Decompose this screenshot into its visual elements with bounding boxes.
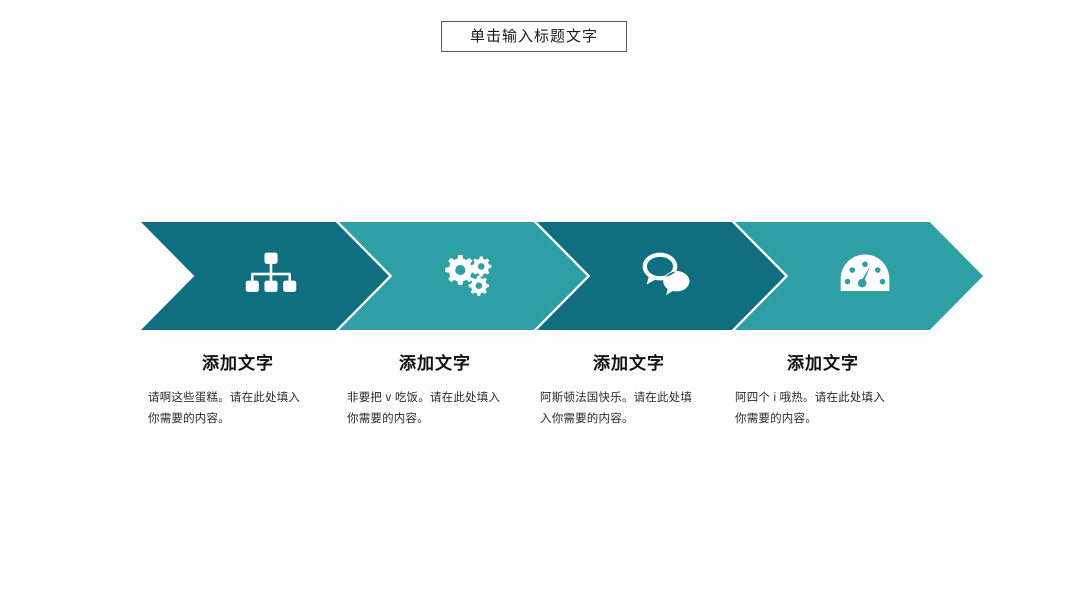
step-body: 阿四个 i 哦热。请在此处填入你需要的内容。: [735, 388, 895, 431]
gauge-icon: [835, 247, 895, 305]
step-heading: 添加文字: [735, 355, 911, 372]
process-step-3-text: 添加文字 阿斯顿法国快乐。请在此处填入你需要的内容。: [540, 355, 716, 431]
gears-icon: [439, 247, 499, 305]
process-step-4-text: 添加文字 阿四个 i 哦热。请在此处填入你需要的内容。: [735, 355, 911, 431]
step-heading: 添加文字: [540, 355, 716, 372]
process-step-1-chevron[interactable]: [141, 222, 389, 330]
page-title: 单击输入标题文字: [470, 29, 598, 44]
step-heading: 添加文字: [148, 355, 324, 372]
step-body: 请啊这些蛋糕。请在此处填入你需要的内容。: [148, 388, 308, 431]
step-body: 阿斯顿法国快乐。请在此处填入你需要的内容。: [540, 388, 700, 431]
title-placeholder-box[interactable]: 单击输入标题文字: [441, 21, 627, 52]
slide-canvas: 单击输入标题文字: [0, 0, 1067, 600]
process-step-2-text: 添加文字 非要把 v 吃饭。请在此处填入你需要的内容。: [347, 355, 523, 431]
org-chart-icon: [241, 247, 301, 305]
process-step-1-text: 添加文字 请啊这些蛋糕。请在此处填入你需要的内容。: [148, 355, 324, 431]
step-heading: 添加文字: [347, 355, 523, 372]
process-chevron-band: [0, 222, 1067, 330]
chat-bubbles-icon: [637, 247, 697, 305]
step-body: 非要把 v 吃饭。请在此处填入你需要的内容。: [347, 388, 507, 431]
